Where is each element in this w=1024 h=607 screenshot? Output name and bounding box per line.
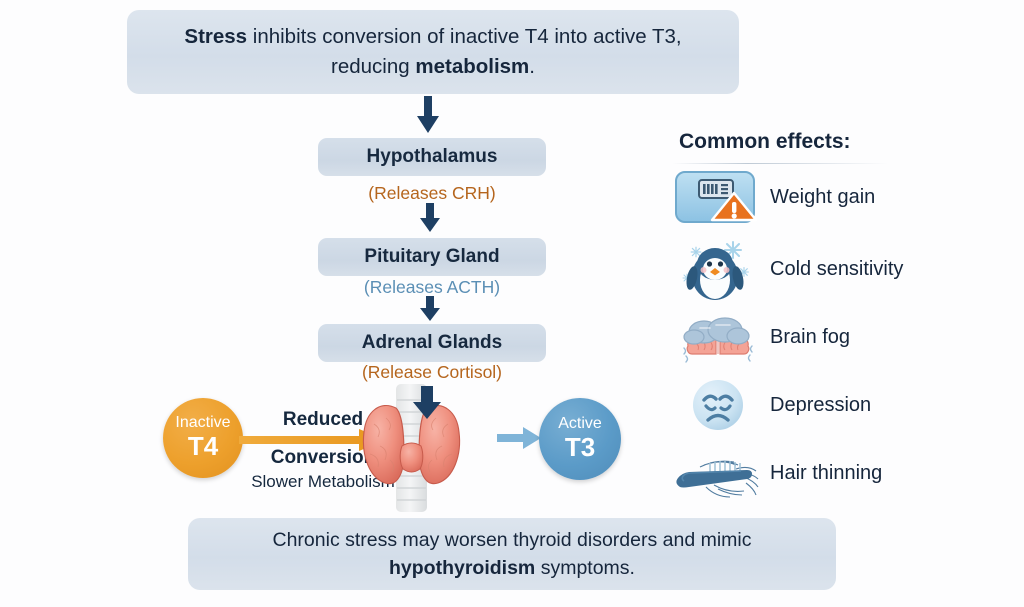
effect-item-brain-fog: Brain fog: [666, 306, 1016, 368]
t3-label: T3: [565, 433, 595, 462]
arrow-down-icon: [410, 386, 444, 425]
flow-step-sub-crh: (Releases CRH): [318, 183, 546, 204]
effect-label: Weight gain: [770, 186, 875, 209]
footer-banner: Chronic stress may worsen thyroid disord…: [188, 518, 836, 590]
effect-label: Cold sensitivity: [770, 258, 903, 281]
t3-circle: Active T3: [539, 398, 621, 480]
header-bold-metabolism: metabolism: [415, 55, 529, 78]
arrow-down-icon: [417, 203, 443, 238]
effect-label: Hair thinning: [770, 462, 882, 485]
arrow-down-icon: [413, 96, 443, 139]
header-bold-stress: Stress: [184, 25, 247, 48]
arrow-down-icon: [417, 296, 443, 327]
effect-item-cold-sensitivity: Cold sensitivity: [666, 238, 1016, 300]
footer-bold-hypothyroidism: hypothyroidism: [389, 557, 535, 579]
flow-step-hypothalamus: Hypothalamus: [318, 138, 546, 176]
flow-step-label: Pituitary Gland: [364, 246, 499, 268]
t4-circle: Inactive T4: [163, 398, 243, 478]
t4-label: T4: [188, 432, 218, 461]
effect-label: Brain fog: [770, 326, 850, 349]
flow-step-sub-cortisol: (Release Cortisol): [318, 362, 546, 383]
effects-divider: [672, 163, 888, 164]
infographic-canvas: Stress inhibits conversion of inactive T…: [0, 0, 1024, 607]
header-line2-post: .: [529, 55, 535, 78]
sad-face-icon: [666, 376, 770, 434]
effects-title: Common effects:: [679, 130, 851, 154]
effect-item-depression: Depression: [666, 374, 1016, 436]
flow-step-pituitary: Pituitary Gland: [318, 238, 546, 276]
effect-item-weight-gain: Weight gain: [666, 166, 1016, 228]
header-line2-pre: reducing: [331, 55, 415, 78]
effect-item-hair-thinning: Hair thinning: [666, 442, 1016, 504]
flow-step-label: Hypothalamus: [367, 146, 498, 168]
footer-line2-rest: symptoms.: [535, 557, 635, 579]
flow-step-adrenal: Adrenal Glands: [318, 324, 546, 362]
comb-hair-icon: [666, 445, 770, 501]
brain-cloud-icon: [666, 308, 770, 366]
t4-qualifier: Inactive: [175, 415, 230, 432]
penguin-icon: [666, 238, 770, 300]
t3-qualifier: Active: [558, 416, 602, 433]
arrow-right-icon: [497, 427, 541, 454]
footer-line1: Chronic stress may worsen thyroid disord…: [273, 529, 752, 551]
weight-scale-icon: [666, 168, 770, 226]
effect-label: Depression: [770, 394, 871, 417]
flow-step-sub-acth: (Releases ACTH): [318, 277, 546, 298]
flow-step-label: Adrenal Glands: [362, 332, 502, 354]
header-banner: Stress inhibits conversion of inactive T…: [127, 10, 739, 94]
header-line1-rest: inhibits conversion of inactive T4 into …: [247, 25, 682, 48]
